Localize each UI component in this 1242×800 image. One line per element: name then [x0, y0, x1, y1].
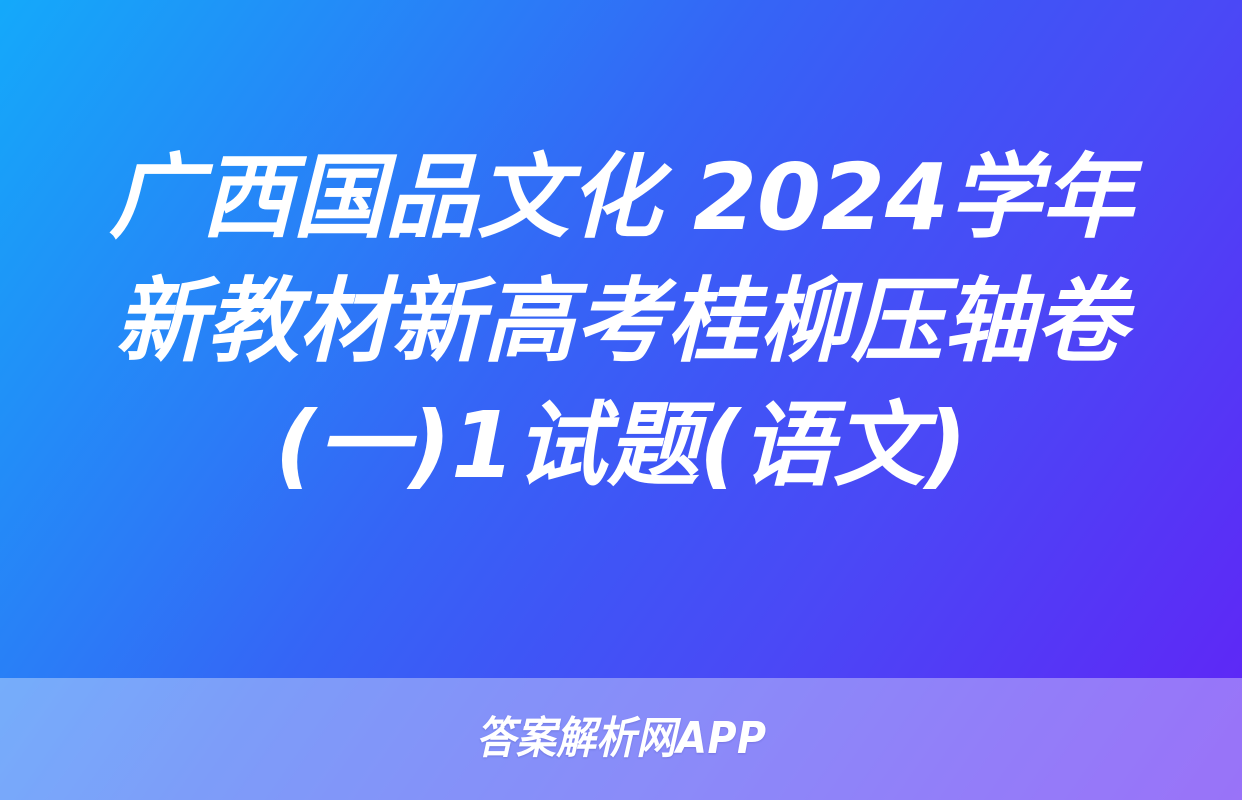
- title-line-3: (一)1试题(语文): [40, 384, 1202, 508]
- title-line-1: 广西国品文化 2024学年: [40, 136, 1202, 260]
- title-line-2: 新教材新高考桂柳压轴卷: [40, 260, 1202, 384]
- page-title: 广西国品文化 2024学年 新教材新高考桂柳压轴卷 (一)1试题(语文): [0, 0, 1242, 678]
- watermark-band: 答案解析网APP: [0, 678, 1242, 800]
- watermark-label: 答案解析网APP: [476, 713, 766, 765]
- exam-paper-cover-card: 广西国品文化 2024学年 新教材新高考桂柳压轴卷 (一)1试题(语文) 答案解…: [0, 0, 1242, 800]
